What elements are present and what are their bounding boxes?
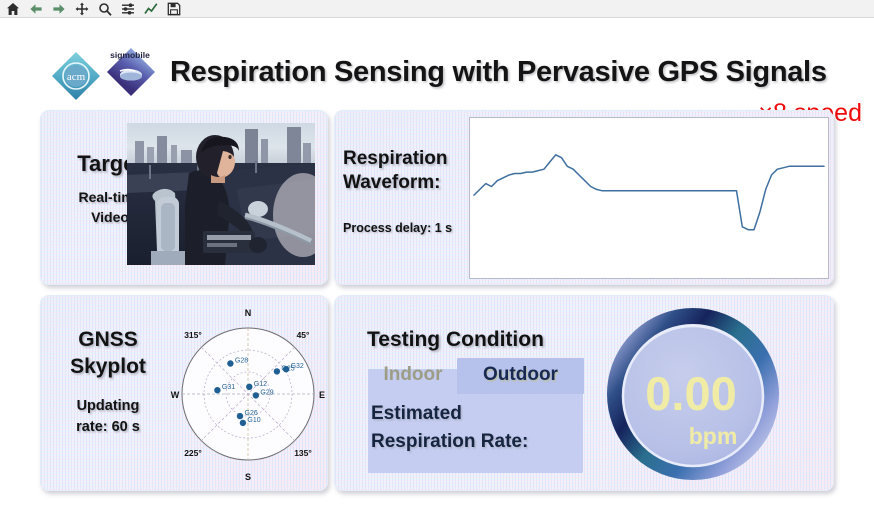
page-header: acm sigmobile Respiration Sens — [0, 18, 874, 106]
sigmobile-logo-text: sigmobile — [110, 50, 150, 60]
estimated-rate-line1: Estimated — [371, 400, 581, 428]
skyplot-label-north: N — [245, 308, 252, 318]
skyplot-tick-315: 315° — [184, 330, 202, 340]
satellite-label: G31 — [222, 384, 235, 391]
skyplot-heading-line2: Skyplot — [49, 353, 167, 380]
skyplot-heading: GNSS Skyplot — [49, 326, 167, 381]
sigmobile-logo: sigmobile — [104, 46, 164, 104]
skyplot-label-south: S — [245, 472, 251, 482]
back-arrow-icon[interactable] — [28, 1, 43, 16]
waveform-heading-line1: Respiration — [343, 147, 473, 171]
satellite-marker — [246, 384, 252, 390]
save-disk-icon[interactable] — [166, 1, 181, 16]
home-icon[interactable] — [5, 1, 20, 16]
satellite-label: G25 — [281, 365, 294, 372]
satellite-marker — [240, 420, 246, 426]
testing-condition-panel: Testing Condition Indoor Outdoor Estimat… — [334, 295, 834, 491]
gauge-value-text: 0.00 — [645, 367, 736, 420]
gnss-skyplot-panel: GNSS Skyplot Updating rate: 60 s — [40, 295, 328, 491]
edit-axis-chart-icon[interactable] — [143, 1, 158, 16]
skyplot-tick-135: 135° — [294, 448, 312, 458]
waveform-chart — [469, 117, 829, 279]
condition-option-indoor[interactable]: Indoor — [371, 364, 455, 386]
waveform-line — [474, 155, 824, 230]
subplot-sliders-icon[interactable] — [120, 1, 135, 16]
satellite-marker — [227, 360, 233, 366]
skyplot-chart: N S E W 315° 45° 225° 135° G28G32G25G31G… — [169, 298, 327, 490]
acm-logo-text: acm — [67, 71, 86, 83]
waveform-heading: Respiration Waveform: — [343, 147, 473, 196]
skyplot-tick-45: 45° — [297, 330, 310, 340]
skyplot-subtitle-line2: rate: 60 s — [49, 417, 167, 438]
respiration-waveform-panel: Respiration Waveform: Process delay: 1 s — [334, 110, 834, 285]
gauge-unit-text: bpm — [689, 423, 738, 449]
condition-option-outdoor[interactable]: Outdoor — [463, 364, 578, 386]
satellite-label: G12 — [254, 381, 267, 388]
skyplot-subtitle-line1: Updating — [49, 396, 167, 417]
skyplot-label-east: E — [319, 390, 325, 400]
satellite-label: G29 — [260, 389, 273, 396]
estimated-rate-label: Estimated Respiration Rate: — [371, 400, 581, 455]
skyplot-subtitle: Updating rate: 60 s — [49, 396, 167, 438]
satellite-label: G10 — [247, 417, 260, 424]
pan-move-icon[interactable] — [74, 1, 89, 16]
page-title: Respiration Sensing with Pervasive GPS S… — [170, 56, 827, 89]
estimated-rate-line2: Respiration Rate: — [371, 428, 581, 456]
satellite-marker — [253, 392, 259, 398]
waveform-heading-line2: Waveform: — [343, 171, 473, 195]
satellite-marker — [237, 413, 243, 419]
skyplot-heading-line1: GNSS — [49, 326, 167, 353]
forward-arrow-icon[interactable] — [51, 1, 66, 16]
matplotlib-toolbar — [0, 0, 874, 18]
satellite-label: G28 — [235, 358, 248, 365]
app-root: acm sigmobile Respiration Sens — [0, 0, 874, 508]
zoom-magnifier-icon[interactable] — [97, 1, 112, 16]
skyplot-label-west: W — [171, 390, 180, 400]
testing-condition-title: Testing Condition — [367, 328, 544, 352]
respiration-rate-gauge: 0.00 bpm — [603, 304, 783, 484]
skyplot-tick-225: 225° — [184, 448, 202, 458]
target-panel: Target Real-time Video — [40, 110, 328, 285]
satellite-marker — [274, 368, 280, 374]
satellite-marker — [214, 387, 220, 393]
realtime-video-frame — [127, 123, 315, 265]
acm-logo: acm — [48, 48, 104, 104]
